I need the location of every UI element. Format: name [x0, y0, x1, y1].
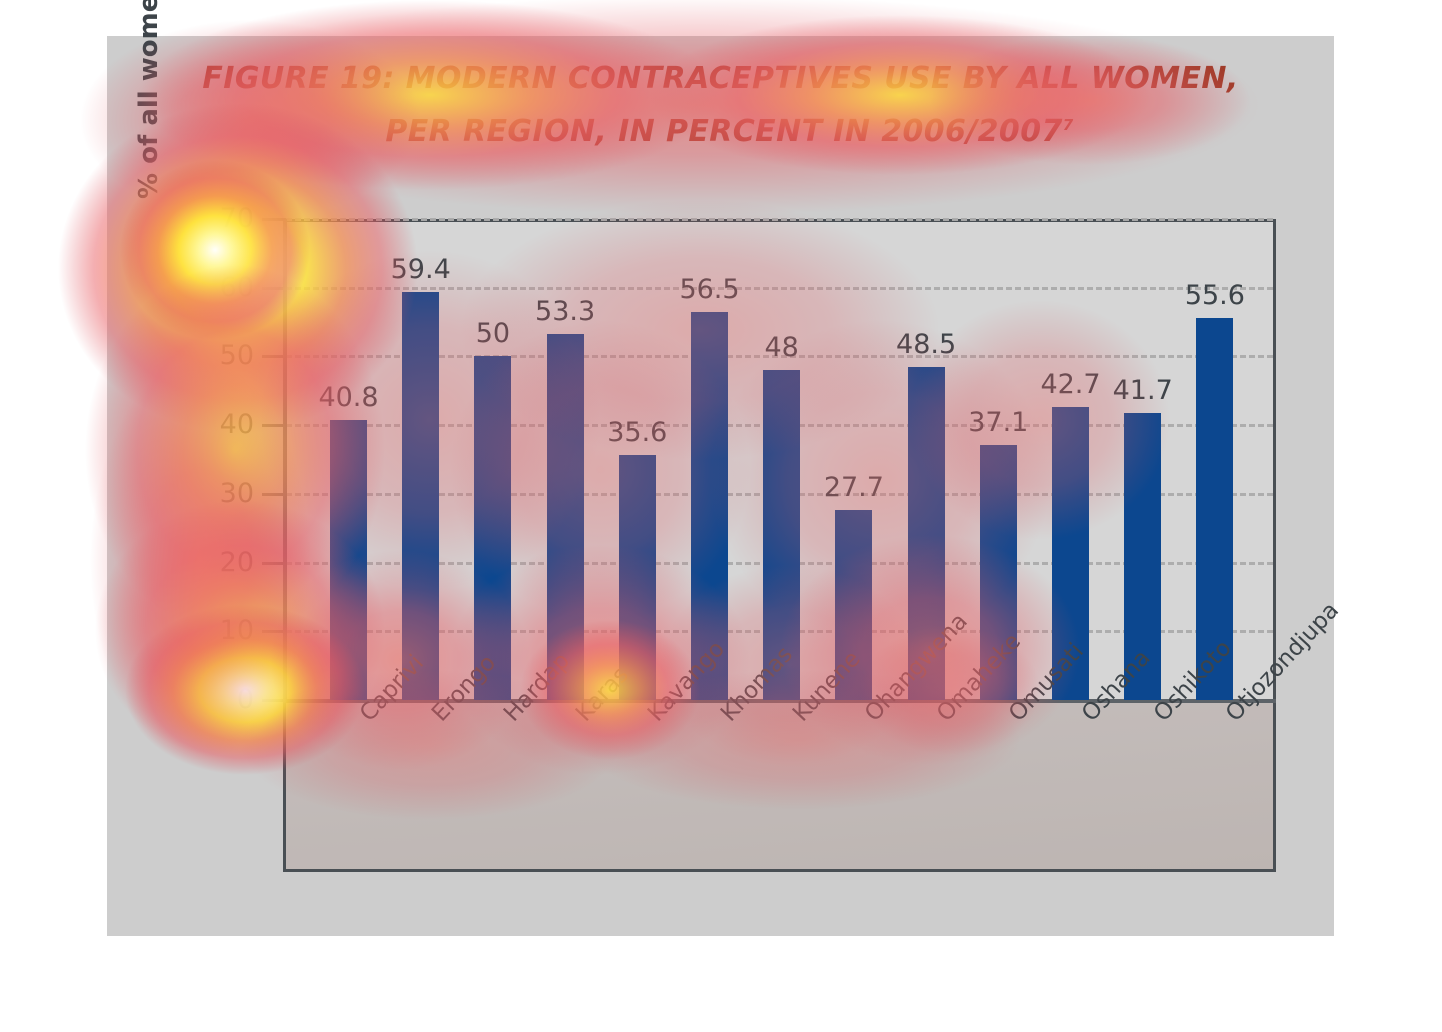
y-tick-label-50: 50: [194, 342, 254, 369]
bar-value-label-karas: 53.3: [520, 296, 610, 327]
bar-value-label-caprivi: 40.8: [304, 382, 394, 413]
y-tick-label-0: 0: [194, 686, 254, 713]
bar-value-label-omusati: 37.1: [953, 407, 1043, 438]
y-tick-label-60: 60: [194, 274, 254, 301]
y-tick-label-70: 70: [194, 205, 254, 232]
x-axis-labels: CapriviErongoHardapKarasKavangoKhomasKun…: [283, 703, 1276, 872]
y-tick-label-20: 20: [194, 549, 254, 576]
bar-kavango[interactable]: [619, 455, 656, 700]
bar-value-label-otjozondjupa: 55.6: [1170, 280, 1260, 311]
bar-hardap[interactable]: [474, 356, 511, 700]
y-axis-title: % of all women using modern contraceptiv…: [134, 0, 178, 199]
y-tick-label-40: 40: [194, 411, 254, 438]
bar-caprivi[interactable]: [330, 420, 367, 700]
bars-layer: 40.859.45053.335.656.54827.748.537.142.7…: [283, 219, 1276, 700]
bar-value-label-erongo: 59.4: [376, 254, 466, 285]
y-tick-label-10: 10: [194, 617, 254, 644]
bar-value-label-oshikoto: 41.7: [1098, 375, 1188, 406]
bar-value-label-khomas: 56.5: [665, 274, 755, 305]
y-tick-label-30: 30: [194, 480, 254, 507]
bar-value-label-omaheke: 48.5: [881, 329, 971, 360]
bar-erongo[interactable]: [402, 292, 439, 700]
bar-value-label-kunene: 48: [737, 332, 827, 363]
bar-karas[interactable]: [547, 334, 584, 700]
bar-value-label-ohangwena: 27.7: [809, 472, 899, 503]
bar-value-label-kavango: 35.6: [592, 417, 682, 448]
